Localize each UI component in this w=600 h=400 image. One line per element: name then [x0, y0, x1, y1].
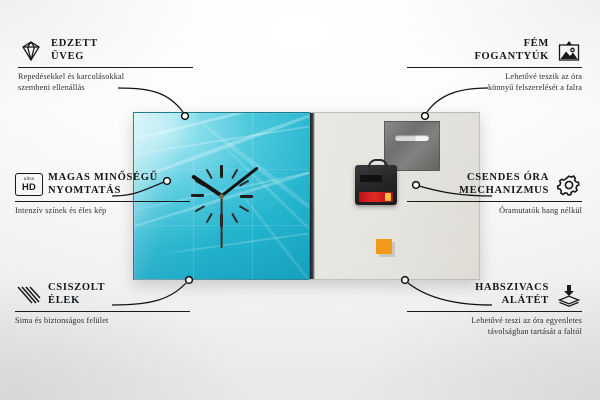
picture-frame-icon — [556, 39, 582, 63]
clock-center-cap — [219, 194, 224, 199]
callout-description: Intenzív színek és éles kép — [15, 206, 190, 217]
hanger-slot — [395, 135, 429, 141]
callout-title: FÉMFOGANTYÚK — [474, 38, 549, 63]
hd-label: HD — [22, 182, 36, 191]
callout-title: EDZETTÜVEG — [51, 38, 98, 63]
divider — [407, 201, 582, 202]
divider — [407, 67, 582, 68]
mechanism-hook — [368, 159, 388, 170]
clock-minute-hand — [221, 166, 259, 197]
divider — [407, 311, 582, 312]
panel-edge-shadow — [310, 113, 315, 279]
callout-title: MAGAS MINŐSÉGŰNYOMTATÁS — [48, 172, 158, 197]
polished-edges-icon — [15, 283, 41, 307]
metal-hanger — [384, 121, 440, 171]
foam-pad-icon — [556, 283, 582, 307]
callout-title: CSENDES ÓRAMECHANIZMUS — [459, 172, 549, 197]
diamond-icon — [18, 39, 44, 63]
callout-foam-pad: HABSZIVACSALÁTÉT Lehetővé teszi az óra e… — [407, 282, 582, 337]
callout-description: Repedésekkel és karcolásokkalszembeni el… — [18, 72, 193, 93]
callout-polished-edges: CSISZOLTÉLEK Sima és biztonságos felület — [15, 282, 190, 327]
infographic-canvas: EDZETTÜVEG Repedésekkel és karcolásokkal… — [0, 0, 600, 400]
callout-title: CSISZOLTÉLEK — [48, 282, 105, 307]
callout-quiet-mechanism: CSENDES ÓRAMECHANIZMUS Óramutatók hang n… — [407, 172, 582, 217]
battery — [359, 192, 393, 202]
divider — [15, 311, 190, 312]
ultra-hd-icon: ultra HD — [15, 173, 41, 197]
callout-title: HABSZIVACSALÁTÉT — [475, 282, 549, 307]
clock-mechanism — [355, 165, 397, 205]
gear-icon — [556, 173, 582, 197]
mechanism-label — [360, 175, 382, 182]
callout-description: Lehetővé teszi az óra egyenletestávolság… — [407, 316, 582, 337]
foam-pad — [376, 239, 392, 254]
divider — [15, 201, 190, 202]
callout-high-quality-print: ultra HD MAGAS MINŐSÉGŰNYOMTATÁS Intenzí… — [15, 172, 190, 217]
callout-description: Sima és biztonságos felület — [15, 316, 190, 327]
callout-description: Lehetővé teszik az órakönnyű felszerelés… — [407, 72, 582, 93]
divider — [18, 67, 193, 68]
callout-metal-handles: FÉMFOGANTYÚK Lehetővé teszik az órakönny… — [407, 38, 582, 93]
callout-tempered-glass: EDZETTÜVEG Repedésekkel és karcolásokkal… — [18, 38, 193, 93]
clock-second-hand — [221, 196, 223, 248]
callout-description: Óramutatók hang nélkül — [407, 206, 582, 217]
